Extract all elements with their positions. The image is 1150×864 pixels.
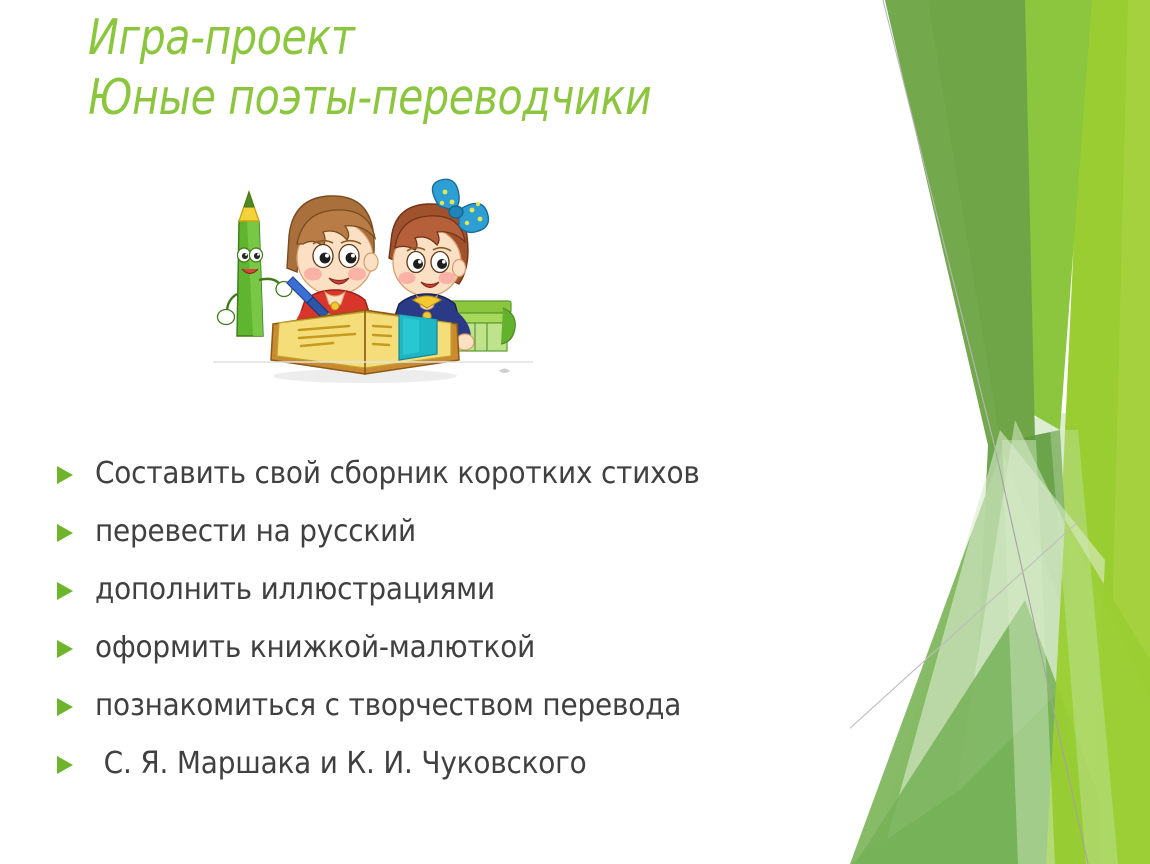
presentation-slide: Игра-проект Юные поэты-переводчики — [0, 0, 1150, 864]
list-item: С. Я. Маршака и К. И. Чуковского — [56, 745, 846, 803]
decor-hairline-diagonal — [850, 520, 1080, 864]
triangle-bullet-icon — [56, 465, 78, 485]
triangle-bullet-icon — [56, 523, 78, 543]
list-item-label: познакомиться с творчеством перевода — [95, 687, 681, 721]
decor-shape-mid-lower-main — [850, 450, 1082, 864]
decor-shape-mid-lower — [850, 455, 1075, 864]
decor-shape-dark-wedge-lower — [968, 430, 1085, 864]
decor-shape-dark-wedge-upper — [885, 0, 1035, 445]
children-reading-illustration — [213, 176, 533, 391]
decor-shape-bright-upper — [1008, 0, 1092, 430]
list-item-label: дополнить иллюстрациями — [95, 571, 495, 605]
decor-shape-pale-lower — [870, 430, 1150, 864]
triangle-bullet-icon — [56, 639, 78, 659]
decor-shape-green-lower-left — [850, 690, 1095, 864]
list-item-label: перевести на русский — [95, 513, 416, 547]
small-doodle-icon — [499, 369, 510, 374]
list-item: перевести на русский — [56, 513, 846, 571]
list-item: оформить книжкой-малюткой — [56, 629, 846, 687]
decor-shape-lime-lower — [1046, 520, 1150, 864]
pencil-mascot-icon — [218, 192, 293, 336]
slide-title: Игра-проект Юные поэты-переводчики — [88, 8, 848, 128]
decor-shape-pale-cross — [945, 420, 1150, 864]
decor-hairline-upper — [883, 0, 996, 452]
facet-theme-corner-graphic — [850, 0, 1150, 864]
list-item-label: оформить книжкой-малюткой — [95, 629, 535, 663]
decor-shape-pale-lower-2 — [925, 400, 1150, 864]
list-item: дополнить иллюстрациями — [56, 571, 846, 629]
triangle-bullet-icon — [56, 755, 78, 775]
decor-shape-dark-wedge-upper-shade — [885, 0, 1000, 445]
decor-shape-green-lower-left-2 — [855, 600, 1100, 864]
decor-shape-lime-right — [1045, 0, 1150, 864]
slide-title-line-1: Игра-проект — [88, 8, 726, 68]
list-item-label: С. Я. Маршака и К. И. Чуковского — [95, 745, 587, 779]
decor-shape-verypale-sheet — [880, 430, 1105, 864]
decor-hairline-lower — [996, 452, 1088, 864]
decor-shape-sliver-a — [1002, 440, 1055, 864]
list-item: Составить свой сборник коротких стихов — [56, 455, 846, 513]
list-item: познакомиться с творчеством перевода — [56, 687, 846, 745]
bullet-list: Составить свой сборник коротких стихов п… — [56, 455, 846, 803]
slide-title-line-2: Юные поэты-переводчики — [88, 68, 726, 128]
decor-shape-sliver-b — [1050, 430, 1118, 864]
triangle-bullet-icon — [56, 581, 78, 601]
triangle-bullet-icon — [56, 697, 78, 717]
open-book-icon — [271, 310, 459, 383]
list-item-label: Составить свой сборник коротких стихов — [95, 455, 700, 489]
decor-shape-lime-right-2 — [1106, 0, 1150, 864]
